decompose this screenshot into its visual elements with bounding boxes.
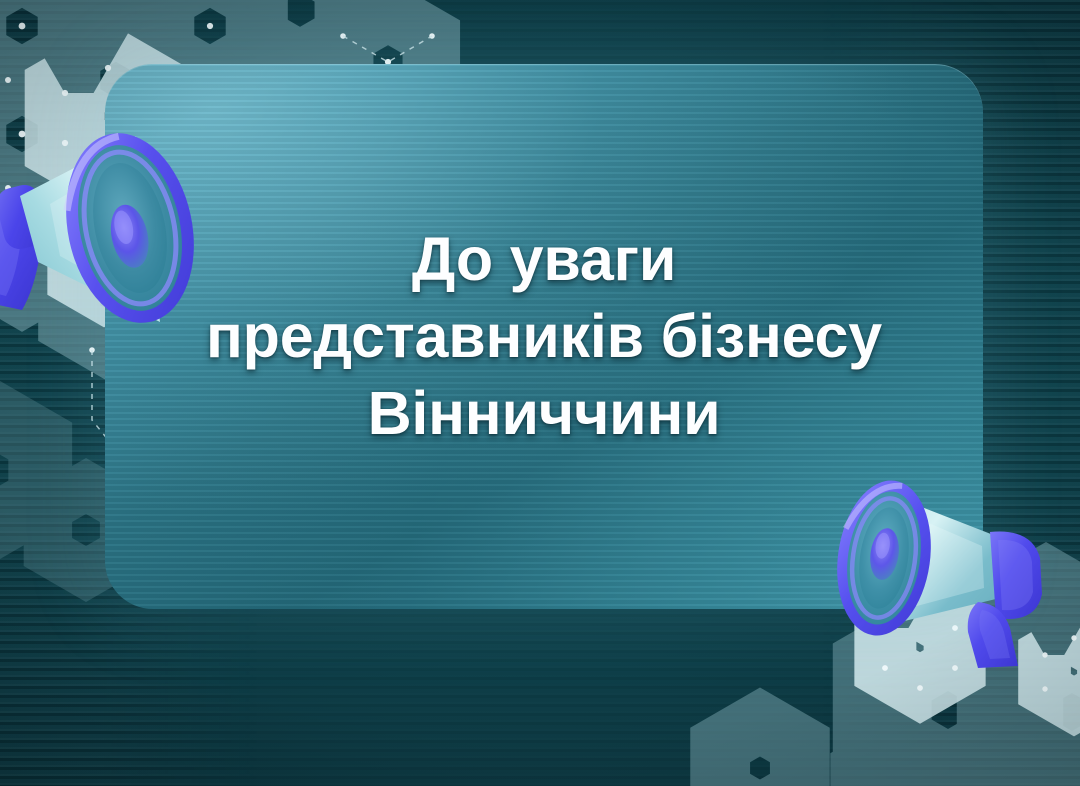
megaphone-icon (0, 104, 232, 339)
megaphone-icon (832, 452, 1080, 674)
headline-line-2: представників бізнесу (206, 305, 882, 368)
headline-line-1: До уваги (412, 228, 676, 291)
poster-canvas: До уваги представників бізнесу Вінниччин… (0, 0, 1080, 786)
headline-line-3: Вінниччини (368, 382, 721, 445)
